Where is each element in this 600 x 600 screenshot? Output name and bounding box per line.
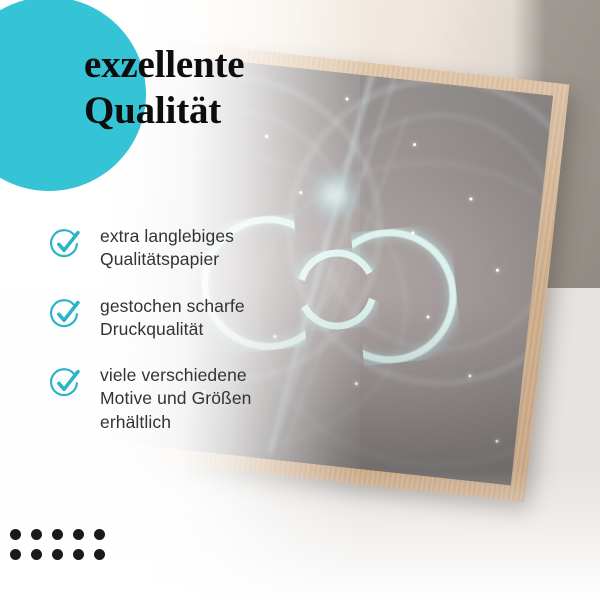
dot (94, 549, 105, 560)
check-circle-icon (48, 227, 82, 261)
dot (10, 529, 21, 540)
dot-grid-decoration (10, 529, 115, 569)
feature-line: Motive und Größen (100, 387, 252, 410)
check-circle-icon (48, 366, 82, 400)
dot (52, 549, 63, 560)
list-item: gestochen scharfe Druckqualität (48, 294, 378, 342)
dot (10, 549, 21, 560)
page-title: exzellente Qualität (84, 42, 414, 134)
feature-line: erhältlich (100, 411, 252, 434)
check-circle-icon (48, 297, 82, 331)
feature-line: viele verschiedene (100, 364, 252, 387)
dot (31, 549, 42, 560)
feature-line: Druckqualität (100, 318, 245, 341)
dot (52, 529, 63, 540)
list-item-label: gestochen scharfe Druckqualität (100, 294, 245, 342)
feature-line: extra langlebiges (100, 225, 234, 248)
promo-banner: exzellente Qualität extra langlebiges Qu… (0, 0, 600, 600)
dot (31, 529, 42, 540)
list-item-label: extra langlebiges Qualitätspapier (100, 224, 234, 272)
dot (73, 529, 84, 540)
list-item-label: viele verschiedene Motive und Größen erh… (100, 363, 252, 434)
feature-line: Qualitätspapier (100, 248, 234, 271)
feature-list: extra langlebiges Qualitätspapier gestoc… (48, 224, 378, 456)
dot (94, 529, 105, 540)
headline-line-2: Qualität (84, 88, 414, 134)
feature-line: gestochen scharfe (100, 295, 245, 318)
list-item: extra langlebiges Qualitätspapier (48, 224, 378, 272)
list-item: viele verschiedene Motive und Größen erh… (48, 363, 378, 434)
headline-line-1: exzellente (84, 42, 414, 88)
dot (73, 549, 84, 560)
